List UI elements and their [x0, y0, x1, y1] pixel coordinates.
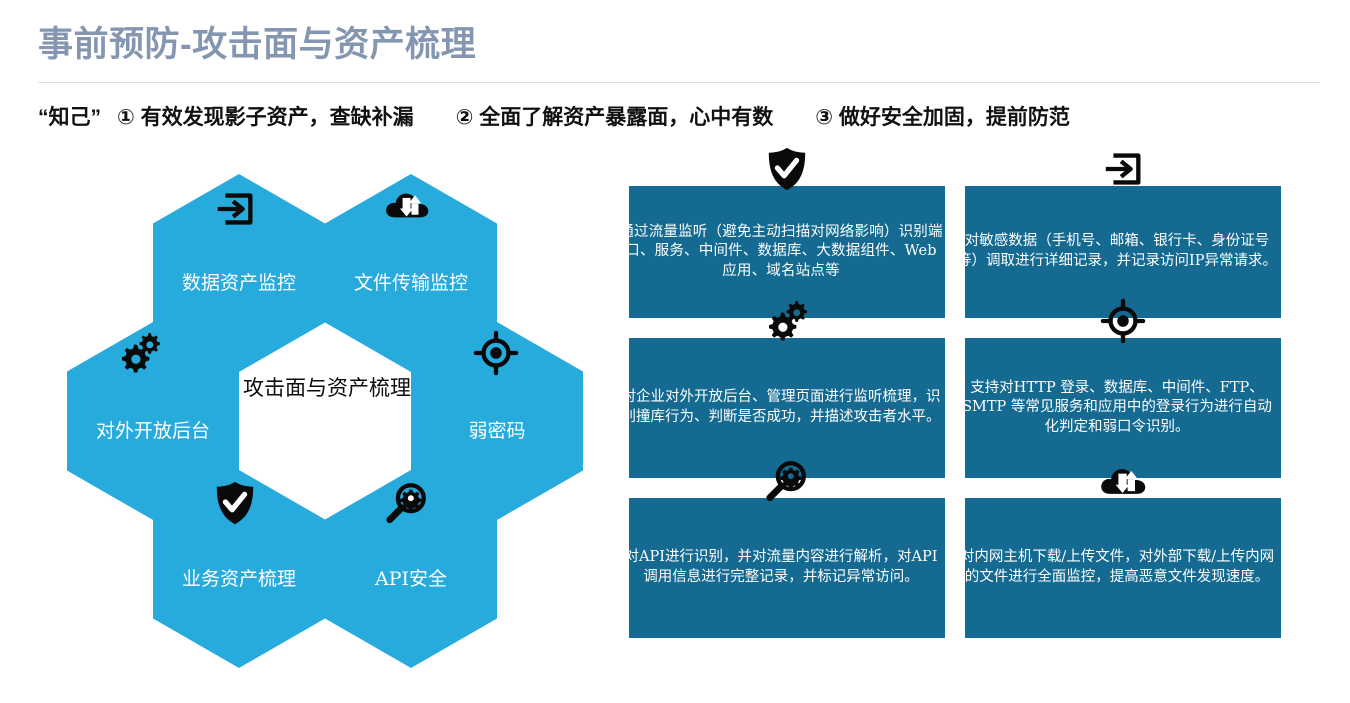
- subtitle-text-3: 做好安全加固，提前防范: [839, 106, 1070, 129]
- subtitle-text-1: 有效发现影子资产，查缺补漏: [141, 106, 414, 129]
- hex-label: 业务资产梳理: [172, 568, 306, 592]
- slide-canvas: 事前预防-攻击面与资产梳理 “知己”① 有效发现影子资产，查缺补漏② 全面了解资…: [0, 0, 1350, 703]
- card-sensitive-data[interactable]: 对敏感数据（手机号、邮箱、银行卡、身份证号等）调取进行详细记录，并记录访问IP异…: [965, 186, 1281, 318]
- subtitle-line: “知己”① 有效发现影子资产，查缺补漏② 全面了解资产暴露面，心中有数③ 做好安…: [38, 104, 1070, 131]
- subtitle-text-2: 全面了解资产暴露面，心中有数: [479, 106, 773, 129]
- hex-label: 文件传输监控: [344, 272, 478, 296]
- card-api-security[interactable]: 对API进行识别，并对流量内容进行解析，对API调用信息进行完整记录，并标记异常…: [629, 498, 945, 638]
- hex-label: API安全: [365, 568, 457, 592]
- subtitle-quote: “知己”: [38, 106, 101, 129]
- capability-card-grid: 通过流量监听（避免主动扫描对网络影响）识别端口、服务、中间件、数据库、大数据组件…: [629, 186, 1281, 638]
- card-text: 支持对HTTP 登录、数据库、中间件、FTP、SMTP 等常见服务和应用中的登录…: [953, 379, 1281, 438]
- page-title: 事前预防-攻击面与资产梳理: [38, 24, 476, 66]
- hex-label: 数据资产监控: [172, 272, 306, 296]
- card-text: 通过流量监听（避免主动扫描对网络影响）识别端口、服务、中间件、数据库、大数据组件…: [617, 223, 945, 282]
- card-text: 对内网主机下载/上传文件，对外部下载/上传内网的文件进行全面监控，提高恶意文件发…: [953, 548, 1281, 587]
- arrow-into-box-icon: [1099, 146, 1147, 192]
- card-text: 对企业对外开放后台、管理页面进行监听梳理，识别撞库行为、判断是否成功，并描述攻击…: [617, 388, 945, 427]
- card-text: 对敏感数据（手机号、邮箱、银行卡、身份证号等）调取进行详细记录，并记录访问IP异…: [953, 232, 1281, 271]
- subtitle-marker-2: ②: [456, 106, 474, 129]
- card-weak-password[interactable]: 支持对HTTP 登录、数据库、中间件、FTP、SMTP 等常见服务和应用中的登录…: [965, 338, 1281, 478]
- subtitle-marker-3: ③: [815, 106, 833, 129]
- hex-label: 对外开放后台: [86, 420, 220, 444]
- shield-check-icon: [763, 146, 811, 192]
- title-divider: [38, 82, 1320, 83]
- card-admin-console[interactable]: 对企业对外开放后台、管理页面进行监听梳理，识别撞库行为、判断是否成功，并描述攻击…: [629, 338, 945, 478]
- hex-center-label: 攻击面与资产梳理: [227, 374, 427, 402]
- hexagon-diagram: 数据资产监控 文件传输监控 对外开放后台: [55, 168, 615, 646]
- card-text: 对API进行识别，并对流量内容进行解析，对API调用信息进行完整记录，并标记异常…: [617, 548, 945, 587]
- card-file-transfer[interactable]: 对内网主机下载/上传文件，对外部下载/上传内网的文件进行全面监控，提高恶意文件发…: [965, 498, 1281, 638]
- subtitle-marker-1: ①: [117, 106, 135, 129]
- hex-label: 弱密码: [458, 420, 535, 444]
- card-asset-discovery[interactable]: 通过流量监听（避免主动扫描对网络影响）识别端口、服务、中间件、数据库、大数据组件…: [629, 186, 945, 318]
